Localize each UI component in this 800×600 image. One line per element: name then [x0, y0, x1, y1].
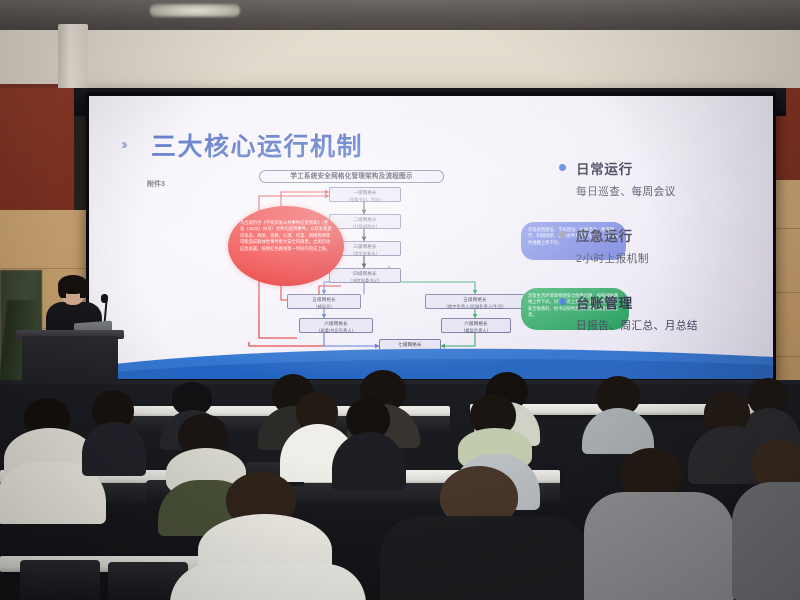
ceiling: [0, 0, 800, 34]
red-wall-panel-left: [0, 88, 74, 218]
bullet-detail: 2小时上报机制: [576, 251, 759, 266]
attachment-label: 附件3: [147, 179, 165, 189]
bullet-list: 日常运行 每日巡查、每周会议 应急运行 2小时上报机制 台账管理 日报告、周汇总…: [559, 158, 759, 359]
node-role-text: （楼层负责人）: [442, 328, 510, 334]
bullet-title: 应急运行: [576, 225, 759, 245]
node-level-text: 二级网格长: [353, 217, 376, 222]
flowchart-node-level1: 一级网格长 （党委书记、院长）: [329, 187, 401, 202]
node-level-text: 六级网格长: [464, 321, 487, 326]
chevron-decoration-icon: ›››: [121, 136, 124, 153]
bullet-dot-icon: [559, 298, 566, 305]
presenter-hair-left: [58, 282, 66, 298]
bullet-item-ledger: 台账管理 日报告、周汇总、月总结: [559, 292, 759, 333]
bullet-detail: 日报告、周汇总、月总结: [576, 318, 759, 333]
bullet-item-emergency: 应急运行 2小时上报机制: [559, 225, 759, 266]
microphone-head-icon: [101, 294, 108, 303]
flowchart-node-level4: 四级网格长 （书院党委书记）: [329, 268, 401, 283]
node-level-text: 四级网格长: [353, 271, 376, 276]
bullet-item-daily: 日常运行 每日巡查、每周会议: [559, 158, 759, 199]
slide-title: 三大核心运行机制: [151, 127, 363, 163]
torso: [584, 492, 734, 600]
torso: [170, 564, 366, 600]
node-role-text: （书院党委书记）: [330, 278, 400, 284]
bullet-dot-icon: [559, 164, 566, 171]
lecture-hall-photo: ››› 三大核心运行机制 附件3 学工系统安全网格化管理架构及流程图示: [0, 0, 800, 600]
bullet-title: 台账管理: [576, 292, 759, 312]
emergency-route-note: 凡出现符合《学校突发公共事件应急预案》（党发〔2023〕32号）文件内适用事件，…: [228, 206, 344, 286]
flowchart-node-level6-floor: 六级网格长 （楼层负责人）: [441, 318, 511, 333]
presentation-slide: ››› 三大核心运行机制 附件3 学工系统安全网格化管理架构及流程图示: [89, 96, 773, 379]
bullet-detail: 每日巡查、每周会议: [576, 184, 759, 199]
projection-screen: ››› 三大核心运行机制 附件3 学工系统安全网格化管理架构及流程图示: [86, 92, 776, 384]
node-role-text: （分管副院长）: [330, 224, 400, 230]
node-level-text: 五级网格长: [312, 297, 335, 302]
flowchart-node-level5-facility: 五级网格长 （楼宇负责人/区域负责人/生活）: [425, 294, 525, 309]
slide-footer-wave: [89, 341, 773, 379]
flowchart: 学工系统安全网格化管理架构及流程图示: [229, 170, 549, 360]
flowchart-node-level2: 二级网格长 （分管副院长）: [329, 214, 401, 229]
flowchart-node-level5-counselor: 五级网格长 （辅导员）: [287, 294, 361, 309]
node-level-text: 一级网格长: [353, 190, 376, 195]
node-role-text: （辅导员）: [288, 304, 360, 310]
node-role-text: （班委/片区负责人）: [300, 328, 372, 334]
upper-wall: [0, 30, 800, 92]
ceiling-light: [150, 4, 240, 17]
presenter-hair-right: [80, 282, 88, 298]
chair-row3-a: [20, 560, 100, 600]
bullet-title: 日常运行: [576, 158, 759, 178]
flowchart-node-level6-class: 六级网格长 （班委/片区负责人）: [299, 318, 373, 333]
bullet-dot-icon: [559, 231, 566, 238]
wall-pillar: [58, 24, 88, 96]
node-role-text: （党委书记、院长）: [330, 197, 400, 203]
node-role-text: （楼宇负责人/区域负责人/生活）: [426, 304, 524, 310]
torso: [380, 516, 590, 600]
node-level-text: 三级网格长: [353, 244, 376, 249]
node-level-text: 六级网格长: [324, 321, 347, 326]
node-level-text: 五级网格长: [463, 297, 486, 302]
torso: [732, 482, 800, 600]
